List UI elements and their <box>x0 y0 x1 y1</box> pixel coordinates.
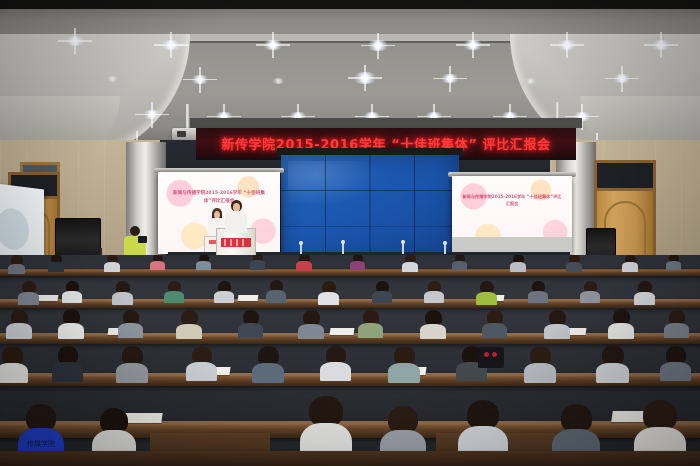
audience-person <box>388 346 420 382</box>
audience-person <box>298 310 324 338</box>
audience-person <box>350 255 365 269</box>
audience-person <box>424 281 444 302</box>
audience-person <box>118 310 143 337</box>
audience-person <box>524 346 556 382</box>
microphone <box>402 243 404 254</box>
downlight <box>440 74 460 83</box>
audience-person <box>8 255 25 272</box>
audience-person <box>596 345 629 382</box>
audience-person <box>266 280 286 302</box>
audience-person <box>48 255 64 270</box>
microphone <box>300 244 302 254</box>
slide-title-left: 新闻与传播学院2015-2016学年 “十佳班集体”评比汇报会 <box>168 190 271 206</box>
downlight <box>366 40 390 51</box>
audience-person <box>176 310 202 338</box>
projection-screen-right: 新闻与传播学院2015-2016学年 “十佳班集体”评比汇报会 <box>452 176 572 254</box>
audience-person <box>476 281 497 303</box>
audience-person <box>420 310 446 338</box>
downlight <box>160 40 182 50</box>
audience-person <box>18 281 39 303</box>
projector-mount-pole-left <box>186 104 189 130</box>
presenter <box>224 200 248 232</box>
audience-person <box>358 310 383 337</box>
slide-title-right: 新闻与传播学院2015-2016学年 “十佳班集体”评比汇报会 <box>462 193 563 207</box>
lecture-hall-photo: 新传学院2015-2016学年 “十佳班集体” 评比汇报会 新闻与传播学院201… <box>0 0 700 466</box>
audience-person <box>0 346 28 382</box>
downlight <box>352 72 378 84</box>
audience-person <box>58 309 84 338</box>
handbag <box>478 347 504 368</box>
downlight <box>262 40 284 50</box>
audience-area: 传媒学院 <box>0 255 700 466</box>
audience-person <box>150 255 165 269</box>
downlight-dim <box>524 78 537 84</box>
audience-person <box>250 255 265 269</box>
audience-person <box>482 310 507 337</box>
downlight <box>190 75 210 84</box>
audience-person <box>664 310 689 337</box>
downlight-dim <box>106 76 119 82</box>
microphone <box>342 243 344 254</box>
video-wall <box>281 155 459 263</box>
microphone <box>444 244 446 254</box>
audience-person <box>112 281 133 303</box>
paper-sheet <box>330 328 355 335</box>
audience-person <box>608 309 634 338</box>
audience-person <box>318 281 339 303</box>
downlight <box>612 74 632 83</box>
downlight <box>64 36 86 46</box>
video-wall-panel-grid <box>281 155 459 263</box>
audience-person <box>214 281 234 302</box>
paper-sheet <box>36 295 59 301</box>
audience-person <box>62 281 82 302</box>
audience-person <box>402 255 418 270</box>
audience-person <box>528 281 548 302</box>
paper-sheet <box>238 295 259 301</box>
audience-person <box>238 310 263 337</box>
audience-person <box>196 255 211 269</box>
audience-person <box>580 281 600 302</box>
audience-person <box>372 281 392 302</box>
audience-person <box>296 255 312 270</box>
audience-person <box>186 346 217 381</box>
audience-person <box>252 346 284 382</box>
audience-person <box>320 346 351 381</box>
jacket-text: 传媒学院 <box>24 440 58 449</box>
downlight <box>142 110 162 119</box>
downlight <box>650 40 672 50</box>
audience-person <box>666 255 681 269</box>
audience-person <box>104 255 120 270</box>
audience-person <box>622 255 638 270</box>
downlight <box>462 40 484 50</box>
podium-name-plate <box>221 238 251 247</box>
desk-row-front <box>0 451 700 466</box>
audience-person <box>52 346 83 381</box>
audience-person <box>566 255 582 270</box>
presenter-body <box>225 211 247 233</box>
slide-right: 新闻与传播学院2015-2016学年 “十佳班集体”评比汇报会 <box>452 176 572 254</box>
audience-person <box>452 255 467 269</box>
audience-person <box>660 346 691 381</box>
audience-person <box>544 310 570 338</box>
audience-person <box>510 255 526 270</box>
ceiling-top-shadow <box>0 0 700 9</box>
audience-person <box>164 281 184 302</box>
audience-person <box>6 310 32 338</box>
audience-person <box>634 281 655 303</box>
audience-person <box>116 346 148 382</box>
downlight <box>556 40 578 50</box>
downlight-dim <box>272 78 285 84</box>
